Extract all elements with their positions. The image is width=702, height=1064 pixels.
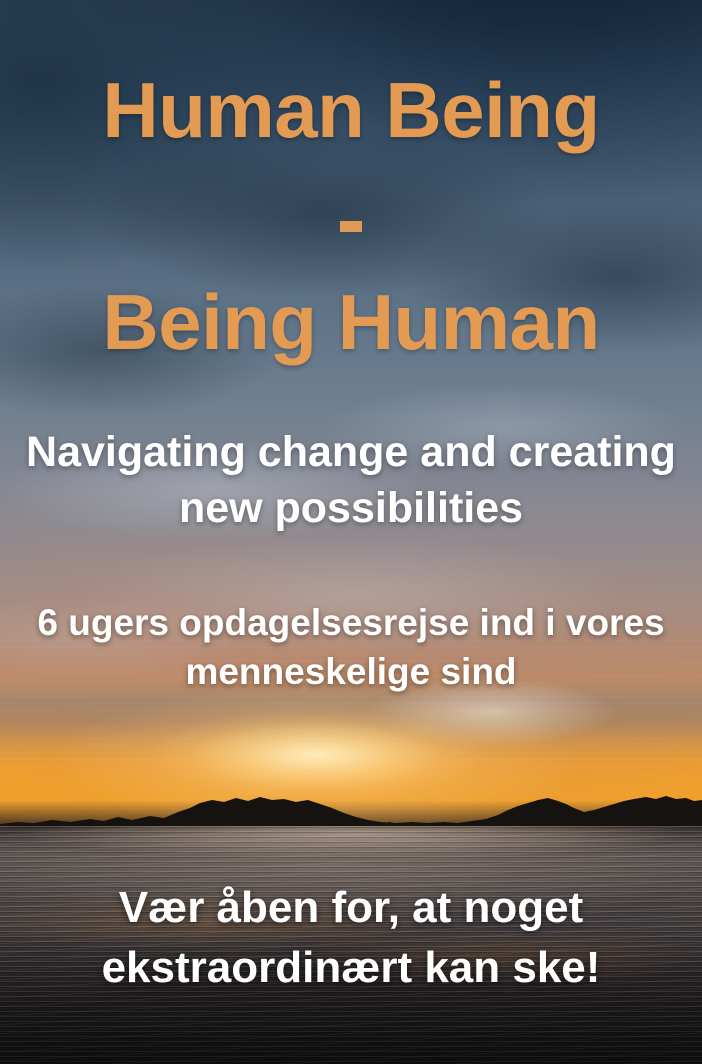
poster-subtitle: Navigating change and creating new possi… [0,424,702,536]
poster-title-line-2: Being Human [0,283,702,361]
poster-callout: Vær åben for, at noget ekstraordinært ka… [0,878,702,998]
poster-tagline: 6 ugers opdagelsesrejse ind i vores menn… [0,598,702,696]
poster-title-line-1: Human Being [0,71,702,149]
title-separator-dash [340,221,362,232]
poster: Human Being Being Human Navigating chang… [0,0,702,1064]
poster-text-content: Human Being Being Human Navigating chang… [0,0,702,1064]
